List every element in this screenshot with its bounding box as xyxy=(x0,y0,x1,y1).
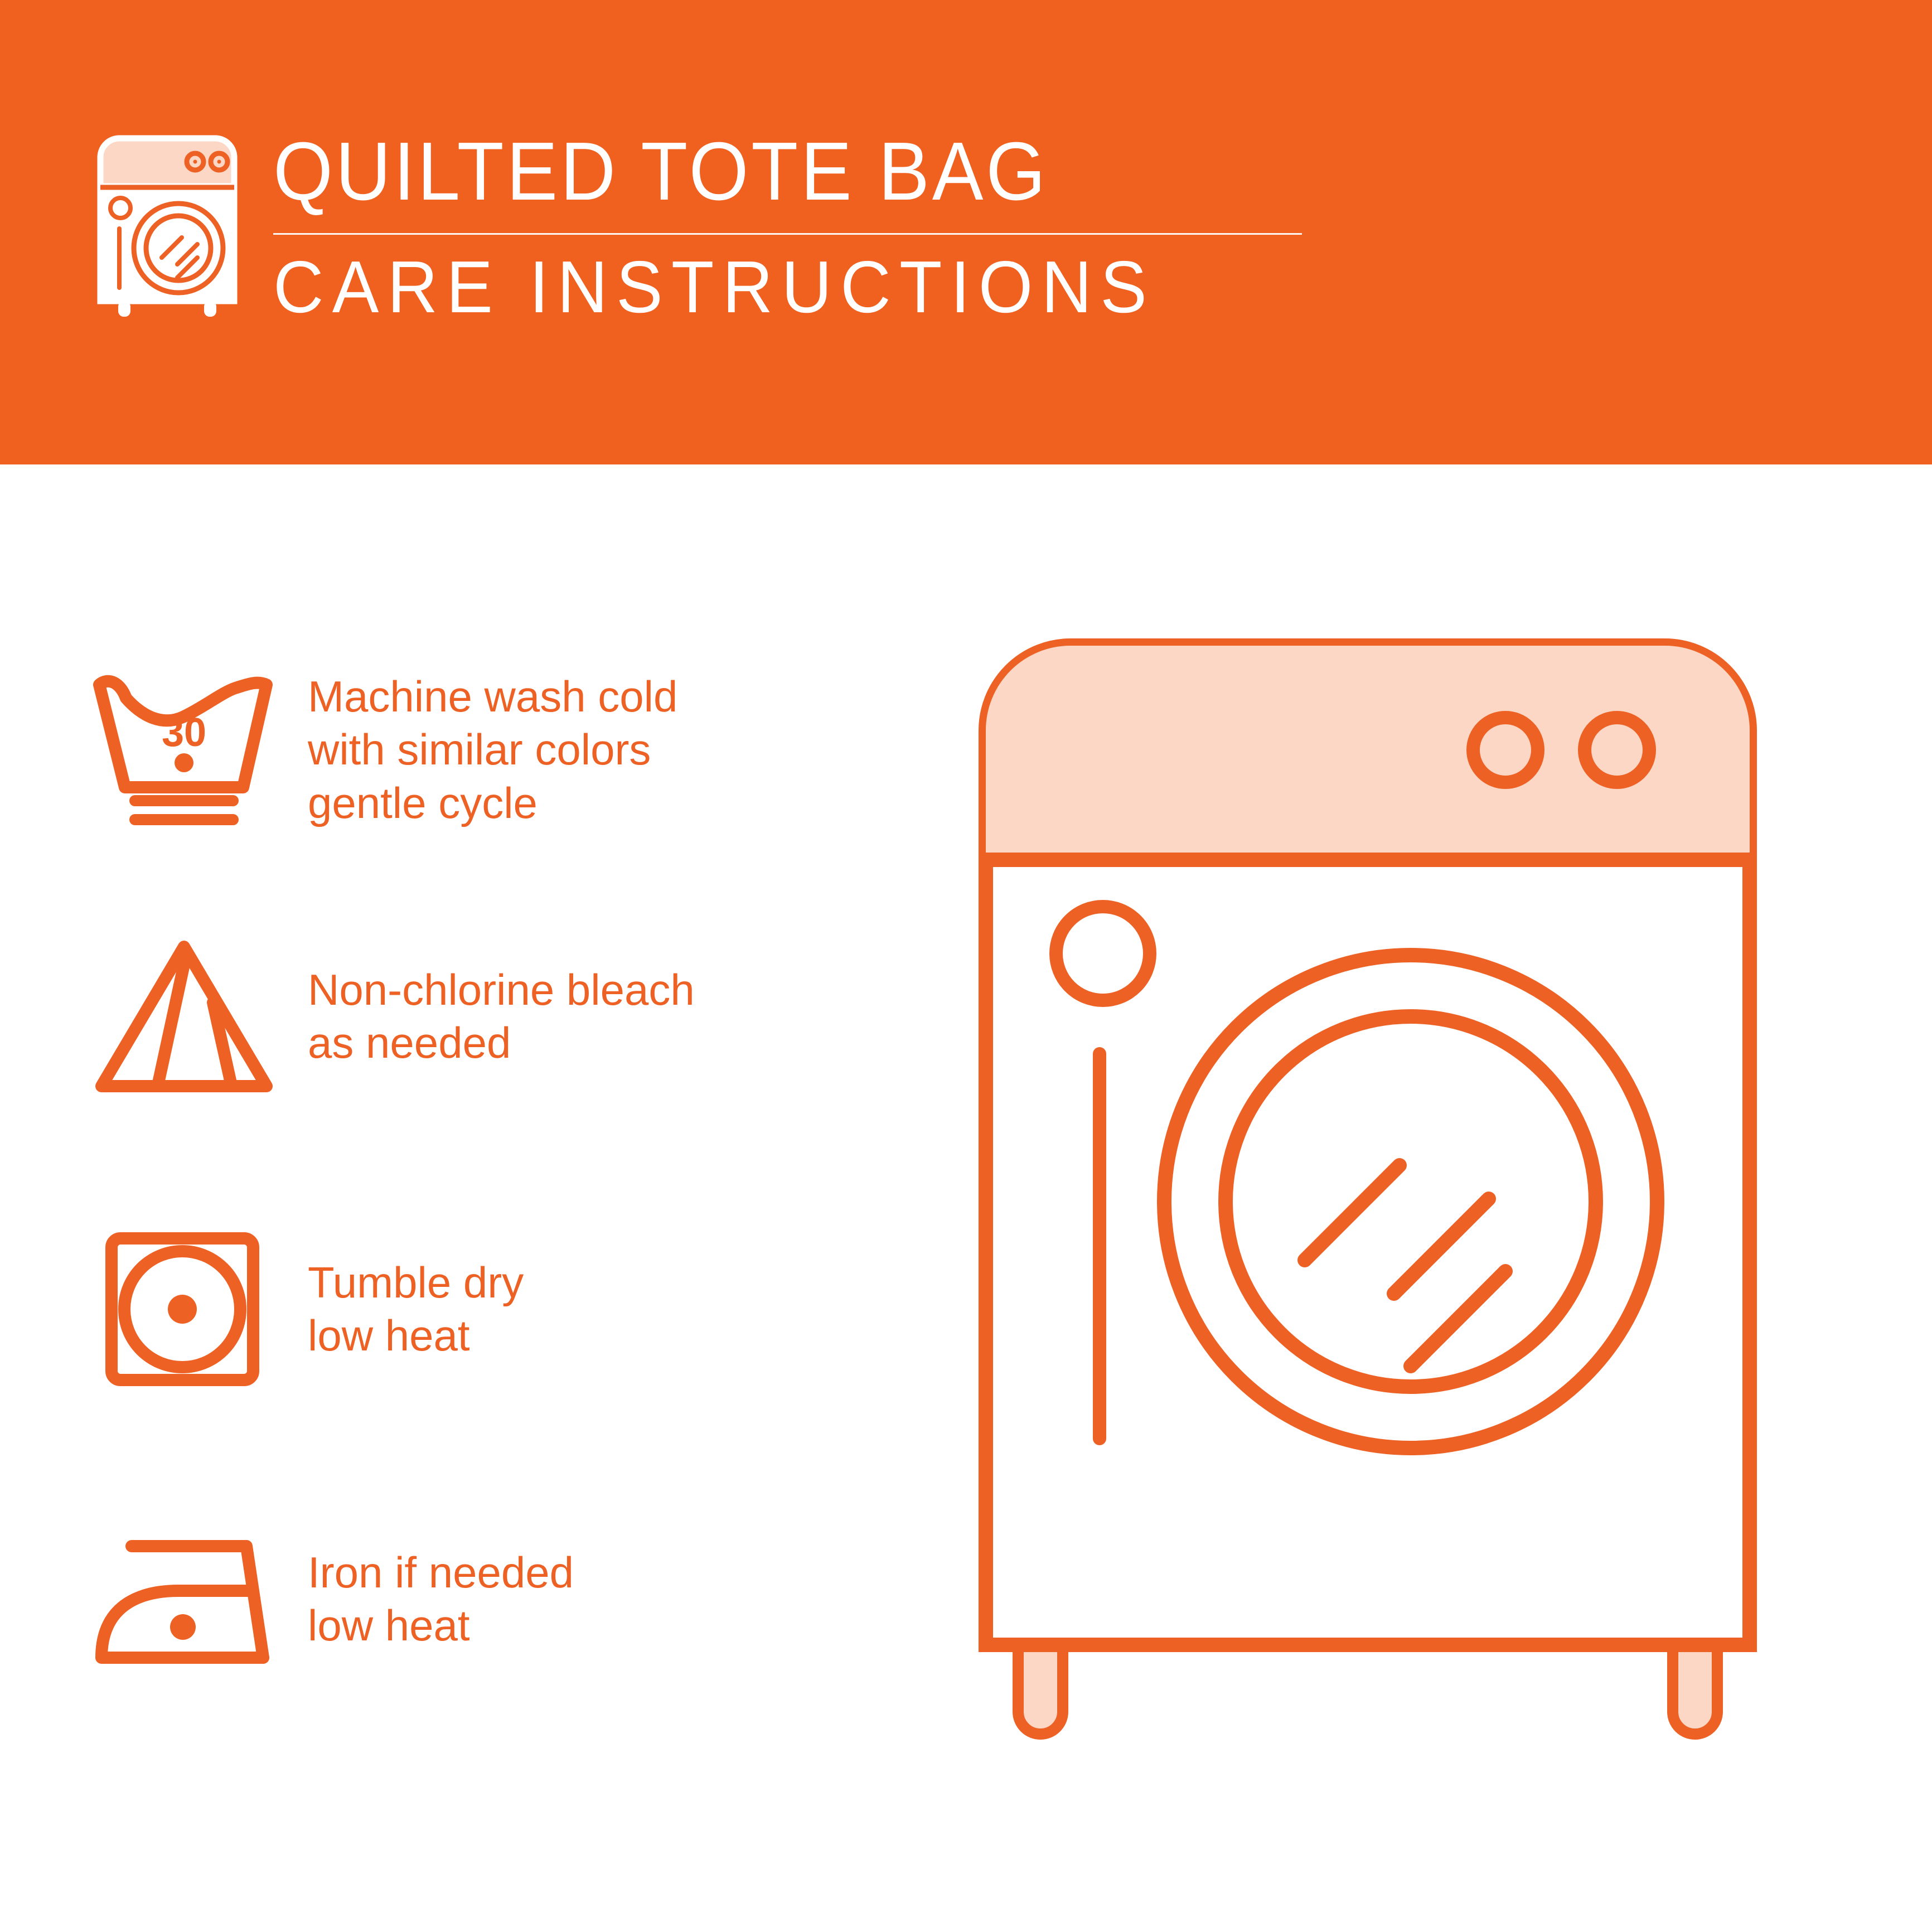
care-label-iron: Iron if needed low heat xyxy=(308,1546,574,1652)
care-label-machine-wash: Machine wash cold with similar colors ge… xyxy=(308,670,677,829)
care-row-machine-wash: 30 Machine wash cold with similar colors… xyxy=(89,655,926,845)
care-row-tumble-dry: Tumble dry low heat xyxy=(89,1214,926,1404)
washer-control-panel xyxy=(986,646,1750,860)
header-content: QUILTED TOTE BAG CARE INSTRUCTIONS xyxy=(84,128,1302,324)
svg-text:30: 30 xyxy=(162,710,206,755)
iron-low-heat-icon xyxy=(89,1504,301,1694)
care-row-iron: Iron if needed low heat xyxy=(89,1504,926,1694)
care-label-tumble-dry: Tumble dry low heat xyxy=(308,1256,524,1362)
page-title: QUILTED TOTE BAG xyxy=(273,130,1230,213)
header-band: QUILTED TOTE BAG CARE INSTRUCTIONS xyxy=(0,0,1932,464)
washing-machine-icon xyxy=(84,128,251,318)
page-subtitle: CARE INSTRUCTIONS xyxy=(273,250,1251,324)
care-row-bleach: Non-chlorine bleach as needed xyxy=(89,922,926,1111)
title-divider xyxy=(273,233,1302,235)
tumble-dry-low-heat-icon xyxy=(89,1214,301,1404)
care-instruction-list: 30 Machine wash cold with similar colors… xyxy=(0,464,948,1932)
wash-tub-30-gentle-icon: 30 xyxy=(89,655,301,845)
large-washing-machine-illustration xyxy=(970,630,1873,1857)
care-label-bleach: Non-chlorine bleach as needed xyxy=(308,963,695,1069)
non-chlorine-bleach-triangle-icon xyxy=(89,922,301,1111)
header-titles: QUILTED TOTE BAG CARE INSTRUCTIONS xyxy=(273,128,1302,324)
